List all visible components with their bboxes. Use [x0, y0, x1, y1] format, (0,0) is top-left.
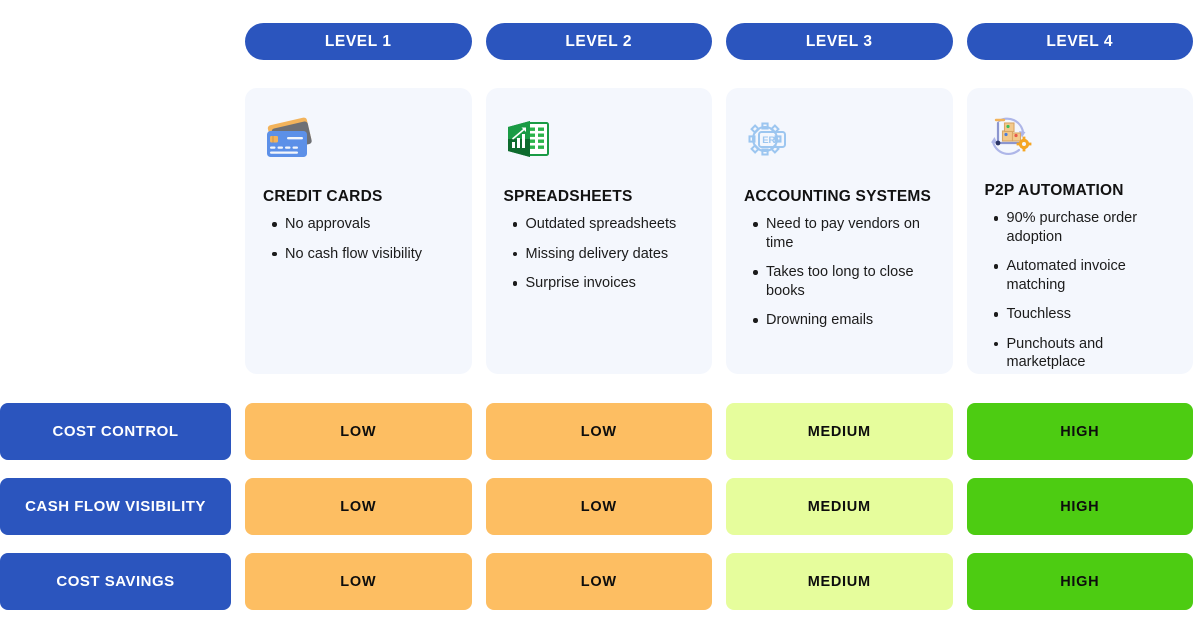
- feature-card-title: ACCOUNTING SYSTEMS: [744, 188, 935, 206]
- feature-card-cell-1: CREDIT CARDS No approvals No cash flow v…: [245, 88, 472, 374]
- spreadsheet-icon: [504, 114, 695, 166]
- automation-icon: [985, 114, 1176, 160]
- list-item: Missing delivery dates: [526, 245, 695, 264]
- rating-cell-cost-savings-level-1[interactable]: LOW: [245, 553, 472, 610]
- rating-value: HIGH: [1060, 424, 1099, 440]
- row-label-cost-control[interactable]: COST CONTROL: [0, 403, 231, 460]
- feature-card-p2p-automation[interactable]: P2P AUTOMATION 90% purchase order adopti…: [967, 88, 1194, 374]
- feature-card-title: P2P AUTOMATION: [985, 182, 1176, 200]
- feature-card-cell-2: SPREADSHEETS Outdated spreadsheets Missi…: [486, 88, 713, 374]
- list-item: Surprise invoices: [526, 274, 695, 293]
- rating-value: LOW: [340, 574, 376, 590]
- rating-value: LOW: [581, 574, 617, 590]
- rating-cell-cost-savings-level-3[interactable]: MEDIUM: [726, 553, 953, 610]
- rating-cell-cash-flow-visibility-level-2[interactable]: LOW: [486, 478, 713, 535]
- rating-cell-wrap: HIGH: [967, 403, 1194, 460]
- list-item: Punchouts and marketplace: [1007, 335, 1176, 372]
- rating-cell-wrap: LOW: [245, 403, 472, 460]
- rating-row-cash-flow-visibility: CASH FLOW VISIBILITY LOW LOW MEDIUM HIGH: [0, 478, 1197, 535]
- feature-card-bullets: Outdated spreadsheets Missing delivery d…: [504, 215, 695, 304]
- row-label-cell: COST SAVINGS: [0, 553, 231, 610]
- level-header-row: LEVEL 1 LEVEL 2 LEVEL 3 LEVEL 4: [0, 23, 1197, 60]
- level-pill-label: LEVEL 4: [1046, 33, 1113, 51]
- level-pill-4[interactable]: LEVEL 4: [967, 23, 1194, 60]
- row-label-cell: CASH FLOW VISIBILITY: [0, 478, 231, 535]
- row-label-cost-savings[interactable]: COST SAVINGS: [0, 553, 231, 610]
- list-item: Drowning emails: [766, 311, 935, 330]
- rating-cell-wrap: LOW: [486, 553, 713, 610]
- feature-card-cell-4: P2P AUTOMATION 90% purchase order adopti…: [967, 88, 1194, 374]
- rating-cell-cash-flow-visibility-level-3[interactable]: MEDIUM: [726, 478, 953, 535]
- rating-cell-wrap: HIGH: [967, 553, 1194, 610]
- feature-card-title: SPREADSHEETS: [504, 188, 695, 206]
- list-item: Need to pay vendors on time: [766, 215, 935, 252]
- rating-value: MEDIUM: [808, 424, 871, 440]
- list-item: Automated invoice matching: [1007, 257, 1176, 294]
- row-label-cash-flow-visibility[interactable]: CASH FLOW VISIBILITY: [0, 478, 231, 535]
- erp-gear-icon: ERP: [744, 114, 935, 166]
- rating-value: LOW: [340, 499, 376, 515]
- rating-value: LOW: [581, 499, 617, 515]
- feature-card-cell-3: ERP ACCOUNTING SYSTEMS Need to pay vendo…: [726, 88, 953, 374]
- level-pill-label: LEVEL 3: [806, 33, 873, 51]
- rating-value: MEDIUM: [808, 574, 871, 590]
- list-item: No approvals: [285, 215, 454, 234]
- rating-cell-wrap: MEDIUM: [726, 553, 953, 610]
- rating-cell-wrap: MEDIUM: [726, 478, 953, 535]
- list-item: Takes too long to close books: [766, 263, 935, 300]
- row-label-text: CASH FLOW VISIBILITY: [25, 498, 206, 515]
- rating-cell-wrap: LOW: [486, 478, 713, 535]
- list-item: No cash flow visibility: [285, 245, 454, 264]
- list-item: Outdated spreadsheets: [526, 215, 695, 234]
- rating-cell-cost-control-level-2[interactable]: LOW: [486, 403, 713, 460]
- rating-value: LOW: [581, 424, 617, 440]
- rating-cell-cash-flow-visibility-level-1[interactable]: LOW: [245, 478, 472, 535]
- rating-cell-cost-savings-level-2[interactable]: LOW: [486, 553, 713, 610]
- list-item: 90% purchase order adoption: [1007, 209, 1176, 246]
- rating-value: LOW: [340, 424, 376, 440]
- feature-card-title: CREDIT CARDS: [263, 188, 454, 206]
- level-pill-label: LEVEL 2: [565, 33, 632, 51]
- cards-corner-spacer: [0, 88, 231, 374]
- row-label-text: COST SAVINGS: [56, 573, 174, 590]
- rating-row-cost-control: COST CONTROL LOW LOW MEDIUM HIGH: [0, 403, 1197, 460]
- level-pill-3[interactable]: LEVEL 3: [726, 23, 953, 60]
- row-label-text: COST CONTROL: [53, 423, 179, 440]
- rating-cell-wrap: HIGH: [967, 478, 1194, 535]
- level-header-cell-4: LEVEL 4: [967, 23, 1194, 60]
- rating-cell-cost-control-level-4[interactable]: HIGH: [967, 403, 1194, 460]
- rating-value: HIGH: [1060, 499, 1099, 515]
- level-header-cell-3: LEVEL 3: [726, 23, 953, 60]
- feature-card-bullets: No approvals No cash flow visibility: [263, 215, 454, 274]
- level-pill-2[interactable]: LEVEL 2: [486, 23, 713, 60]
- feature-card-credit-cards[interactable]: CREDIT CARDS No approvals No cash flow v…: [245, 88, 472, 374]
- rating-cell-wrap: LOW: [486, 403, 713, 460]
- rating-cell-wrap: MEDIUM: [726, 403, 953, 460]
- rating-cell-wrap: LOW: [245, 478, 472, 535]
- feature-card-bullets: Need to pay vendors on time Takes too lo…: [744, 215, 935, 341]
- rating-row-cost-savings: COST SAVINGS LOW LOW MEDIUM HIGH: [0, 553, 1197, 610]
- row-label-cell: COST CONTROL: [0, 403, 231, 460]
- level-pill-1[interactable]: LEVEL 1: [245, 23, 472, 60]
- credit-cards-icon: [263, 114, 454, 166]
- level-header-cell-1: LEVEL 1: [245, 23, 472, 60]
- rating-cell-wrap: LOW: [245, 553, 472, 610]
- svg-text:ERP: ERP: [762, 135, 782, 146]
- header-corner-spacer: [0, 23, 231, 60]
- rating-cell-cash-flow-visibility-level-4[interactable]: HIGH: [967, 478, 1194, 535]
- list-item: Touchless: [1007, 305, 1176, 324]
- feature-card-bullets: 90% purchase order adoption Automated in…: [985, 209, 1176, 383]
- level-pill-label: LEVEL 1: [325, 33, 392, 51]
- rating-cell-cost-savings-level-4[interactable]: HIGH: [967, 553, 1194, 610]
- level-header-cell-2: LEVEL 2: [486, 23, 713, 60]
- rating-value: MEDIUM: [808, 499, 871, 515]
- rating-cell-cost-control-level-1[interactable]: LOW: [245, 403, 472, 460]
- rating-value: HIGH: [1060, 574, 1099, 590]
- feature-card-accounting-systems[interactable]: ERP ACCOUNTING SYSTEMS Need to pay vendo…: [726, 88, 953, 374]
- maturity-matrix: LEVEL 1 LEVEL 2 LEVEL 3 LEVEL 4: [0, 0, 1197, 623]
- rating-cell-cost-control-level-3[interactable]: MEDIUM: [726, 403, 953, 460]
- feature-cards-row: CREDIT CARDS No approvals No cash flow v…: [0, 88, 1197, 374]
- feature-card-spreadsheets[interactable]: SPREADSHEETS Outdated spreadsheets Missi…: [486, 88, 713, 374]
